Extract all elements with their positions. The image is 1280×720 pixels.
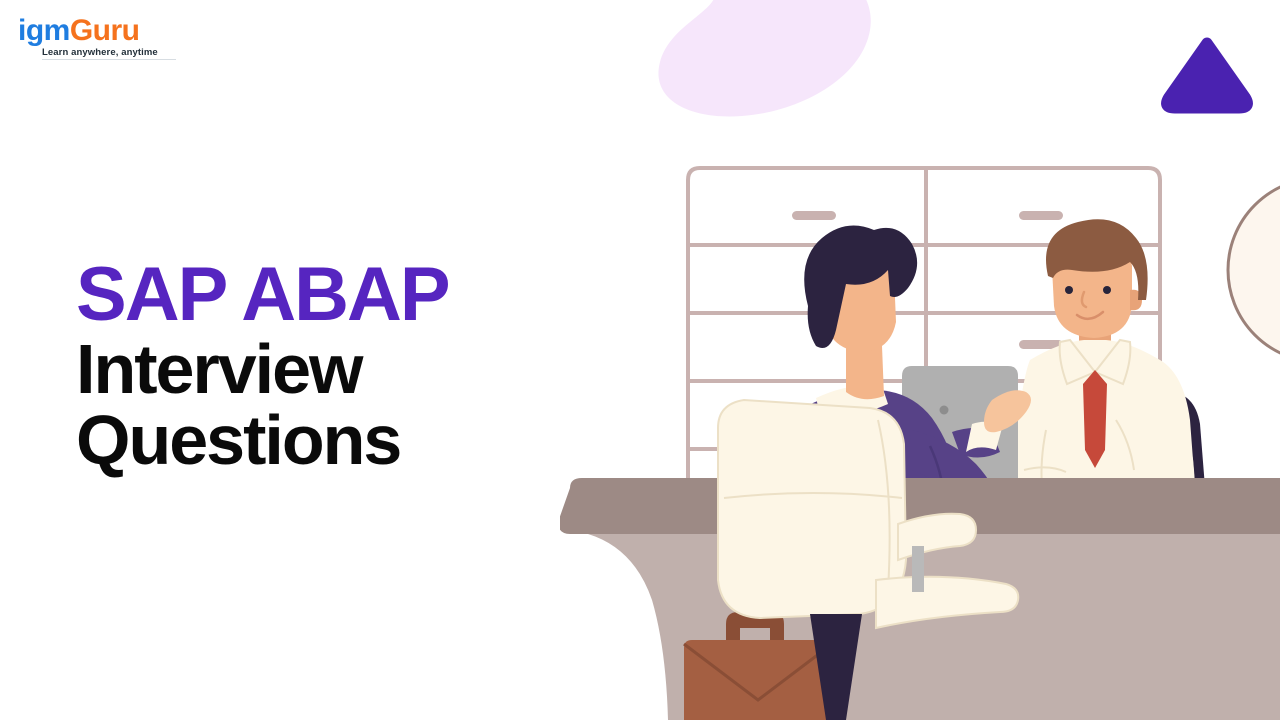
logo-wordmark: igmGuru <box>18 16 218 46</box>
title-line-interview: Interview <box>76 336 449 403</box>
job-interview-illustration <box>560 0 1280 720</box>
logo-text-guru: Guru <box>70 14 140 47</box>
chair-arm-post <box>912 546 924 592</box>
interviewer-eye <box>1103 286 1111 294</box>
site-logo[interactable]: igmGuru Learn anywhere, anytime <box>18 16 218 60</box>
page-title: SAP ABAP Interview Questions <box>76 259 449 473</box>
title-line-questions: Questions <box>76 407 449 474</box>
title-line-product: SAP ABAP <box>76 259 449 331</box>
cabinet-handle <box>792 211 836 220</box>
laptop-camera-dot <box>940 406 949 415</box>
logo-underline-rule <box>42 59 176 60</box>
cabinet-handle <box>1019 211 1063 220</box>
logo-text-igm: igm <box>18 14 70 47</box>
interviewer-eye <box>1065 286 1073 294</box>
banner-canvas: igmGuru Learn anywhere, anytime SAP ABAP… <box>0 0 1280 720</box>
logo-tagline: Learn anywhere, anytime <box>42 47 218 58</box>
